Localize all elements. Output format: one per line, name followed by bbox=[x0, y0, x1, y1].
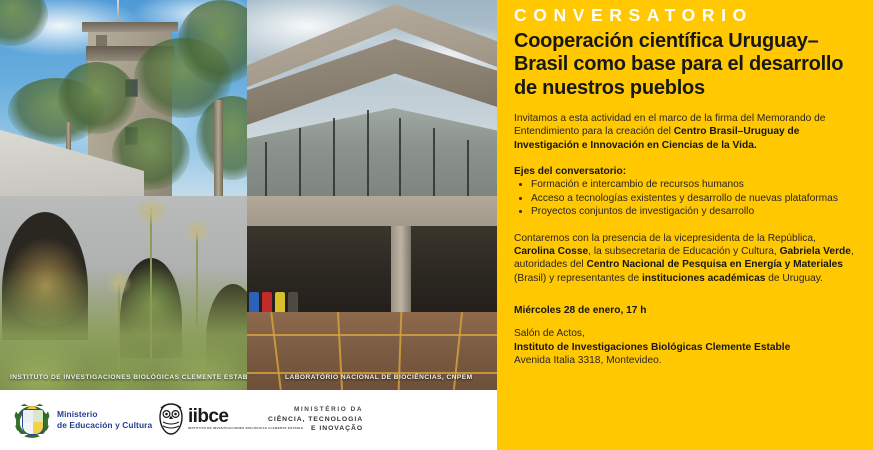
mcti-wordmark: MINISTÉRIO DA CIÊNCIA, TECNOLOGIA E INOV… bbox=[268, 406, 363, 434]
papyrus-head bbox=[182, 220, 212, 242]
mcti-line-1: MINISTÉRIO DA bbox=[268, 406, 363, 415]
window-mullion bbox=[333, 118, 335, 204]
window-mullion bbox=[265, 142, 267, 204]
photo-iibce-arches: INSTITUTO DE INVESTIGACIONES BIOLÓGICAS … bbox=[0, 196, 247, 390]
tower-chimney bbox=[96, 35, 107, 46]
venue-line-1: Salón de Actos, bbox=[514, 327, 858, 341]
photo-caption-left: INSTITUTO DE INVESTIGACIONES BIOLÓGICAS … bbox=[10, 374, 247, 381]
guests-part-2: , la subsecretaria de Educación y Cultur… bbox=[588, 246, 779, 257]
mcti-line-2: CIÊNCIA, TECNOLOGIA bbox=[268, 415, 363, 425]
quarter-cerro bbox=[33, 410, 43, 422]
window-mullion bbox=[399, 118, 401, 204]
guest-carolina-cosse: Carolina Cosse bbox=[514, 246, 588, 257]
guests-paragraph: Contaremos con la presencia de la vicepr… bbox=[514, 232, 858, 286]
recycling-bin-red bbox=[262, 292, 272, 314]
mec-line-2: de Educación y Cultura bbox=[57, 420, 152, 431]
recycling-bin-blue bbox=[249, 292, 259, 314]
photo-caption-right: LABORATÓRIO NACIONAL DE BIOCIÊNCIAS, CNP… bbox=[285, 374, 473, 381]
window-mullion bbox=[367, 110, 369, 204]
guest-gabriela-verde: Gabriela Verde bbox=[780, 246, 851, 257]
escutcheon bbox=[22, 409, 44, 435]
ejes-list: Formación e intercambio de recursos huma… bbox=[514, 178, 858, 218]
palm-trunk bbox=[214, 100, 223, 196]
logo-mcti: MINISTÉRIO DA CIÊNCIA, TECNOLOGIA E INOV… bbox=[268, 406, 363, 434]
papyrus-head bbox=[132, 198, 172, 224]
guests-part-5: de Uruguay. bbox=[765, 273, 823, 284]
venue-line-3: Avenida Italia 3318, Montevideo. bbox=[514, 354, 858, 368]
quarter-ox bbox=[33, 422, 43, 434]
ejes-heading: Ejes del conversatorio: bbox=[514, 166, 858, 177]
mec-wordmark: Ministerio de Educación y Cultura bbox=[57, 409, 152, 430]
list-item: Acceso a tecnologías existentes y desarr… bbox=[531, 192, 858, 205]
org-cnpem: Centro Nacional de Pesquisa en Energía y… bbox=[587, 259, 843, 270]
event-datetime: Miércoles 28 de enero, 17 h bbox=[514, 305, 858, 316]
recycling-bin-dark bbox=[288, 292, 298, 314]
quarter-horse bbox=[23, 422, 33, 434]
uruguay-coat-of-arms-icon bbox=[14, 402, 50, 438]
logo-strip: Ministerio de Educación y Cultura bbox=[0, 390, 497, 450]
tower-cornice bbox=[82, 22, 178, 32]
guests-part-4: (Brasil) y representantes de bbox=[514, 273, 642, 284]
venue-line-2: Instituto de Investigaciones Biológicas … bbox=[514, 342, 790, 353]
photo-collage: INSTITUTO DE INVESTIGACIONES BIOLÓGICAS … bbox=[0, 0, 497, 390]
intro-paragraph: Invitamos a esta actividad en el marco d… bbox=[514, 112, 858, 152]
logo-ministerio-educacion-cultura: Ministerio de Educación y Cultura bbox=[14, 402, 152, 438]
window-mullion bbox=[299, 128, 301, 204]
window-mullion bbox=[467, 140, 469, 204]
recycling-bin-yellow bbox=[275, 292, 285, 314]
event-venue: Salón de Actos, Instituto de Investigaci… bbox=[514, 327, 858, 368]
photo-iibce-tower bbox=[0, 0, 247, 196]
owl-icon bbox=[158, 403, 184, 435]
kicker-label: CONVERSATORIO bbox=[514, 6, 858, 25]
page-title: Cooperación científica Uruguay–Brasil co… bbox=[514, 30, 858, 100]
guests-part-1: Contaremos con la presencia de la vicepr… bbox=[514, 233, 816, 244]
photo-cnpem-lab: LABORATÓRIO NACIONAL DE BIOCIÊNCIAS, CNP… bbox=[247, 0, 497, 390]
mcti-line-3: E INOVAÇÃO bbox=[268, 424, 363, 434]
window-mullion bbox=[433, 128, 435, 204]
papyrus-stem bbox=[118, 282, 120, 372]
quarter-scales bbox=[23, 410, 33, 422]
papyrus-head bbox=[104, 272, 134, 294]
event-poster: INSTITUTO DE INVESTIGACIONES BIOLÓGICAS … bbox=[0, 0, 873, 450]
papyrus-stem bbox=[196, 230, 198, 326]
list-item: Formación e intercambio de recursos huma… bbox=[531, 178, 858, 191]
mec-line-1: Ministerio bbox=[57, 409, 152, 420]
org-instituciones-academicas: instituciones académicas bbox=[642, 273, 765, 284]
list-item: Proyectos conjuntos de investigación y d… bbox=[531, 205, 858, 218]
info-panel: CONVERSATORIO Cooperación científica Uru… bbox=[497, 0, 873, 450]
papyrus-stem bbox=[150, 208, 152, 358]
